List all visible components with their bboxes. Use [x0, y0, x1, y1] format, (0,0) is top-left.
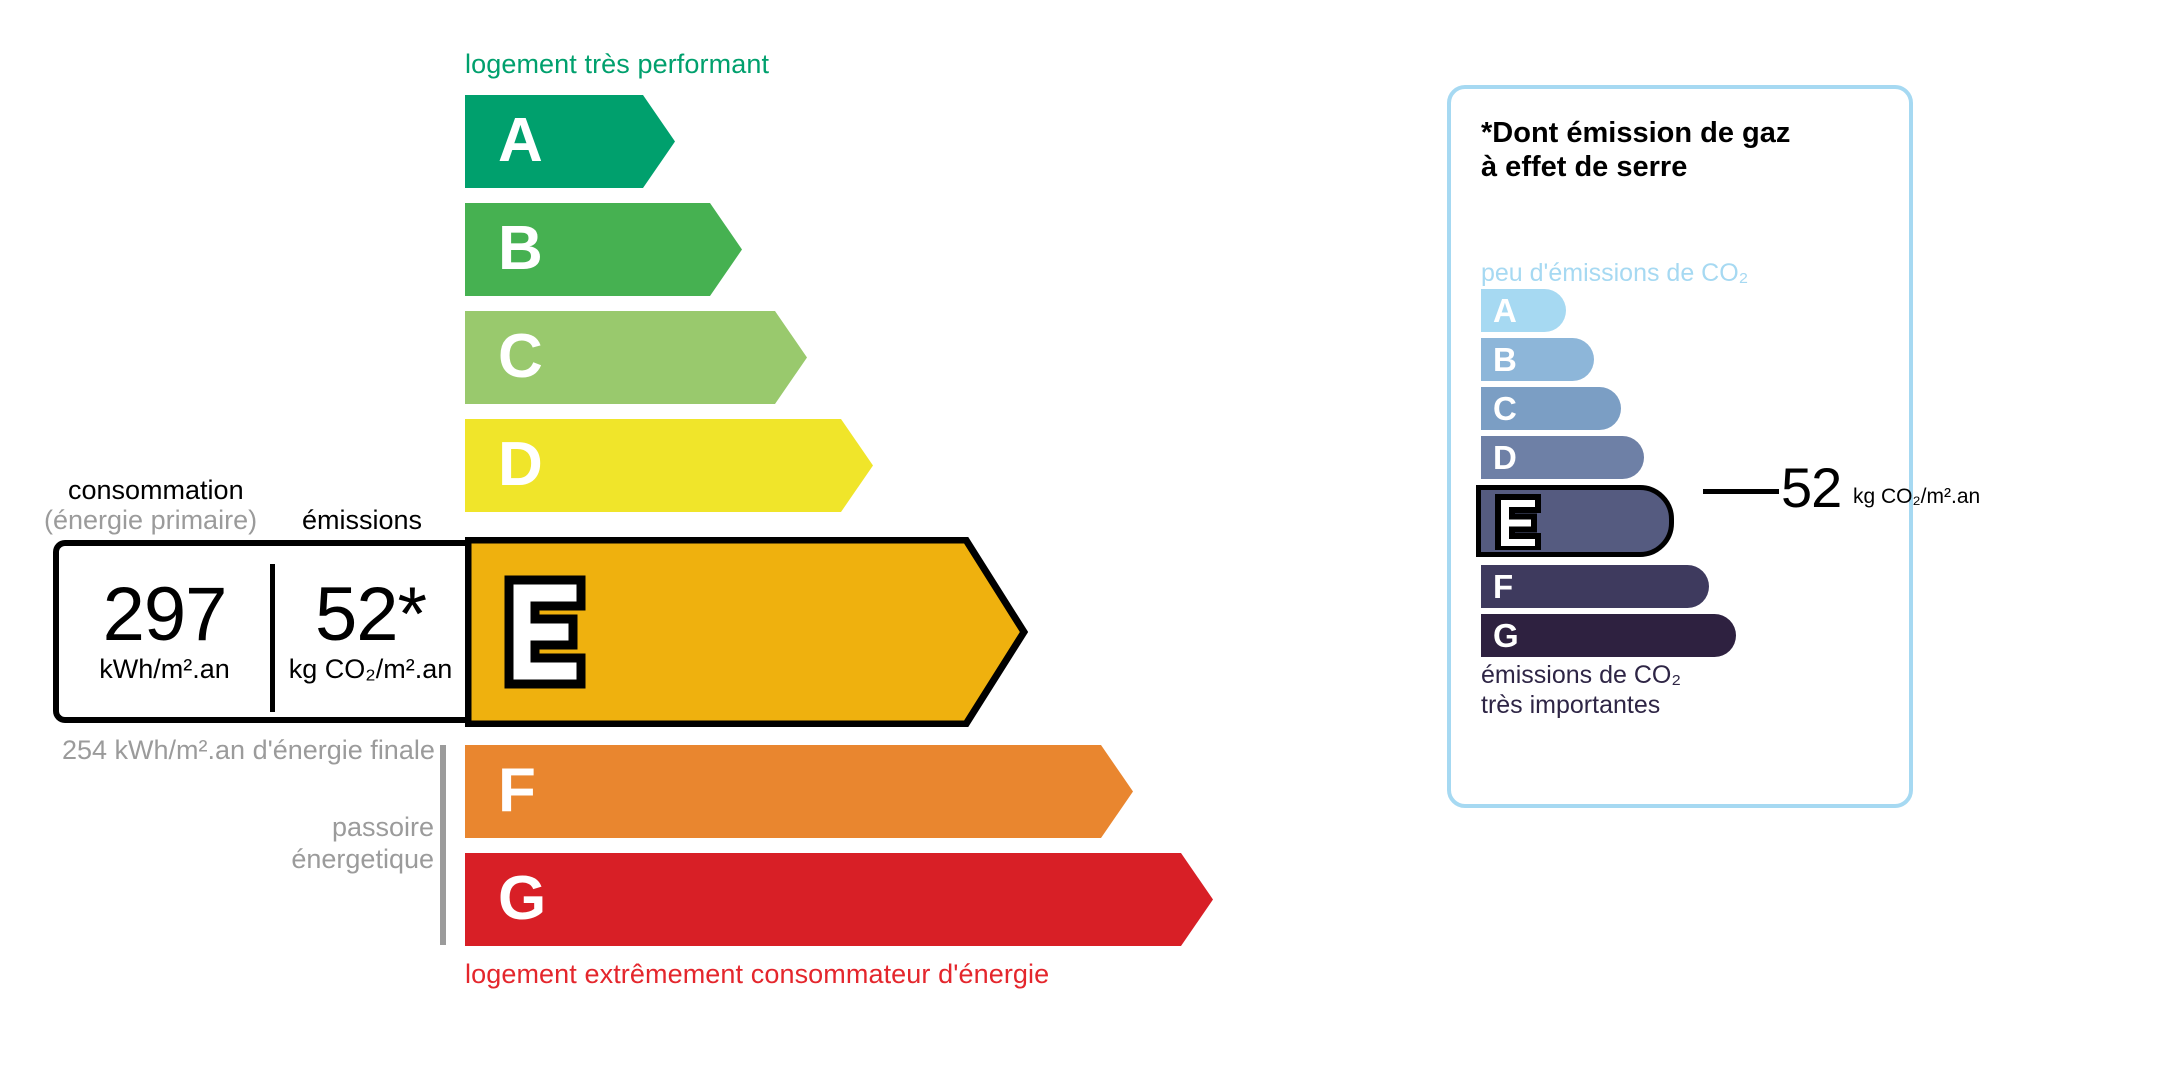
energy-class-letter-d: D — [498, 433, 543, 495]
co2-class-letter-d: D — [1493, 440, 1517, 473]
label-energie-primaire: (énergie primaire) — [44, 505, 257, 536]
co2-class-letter-e — [1493, 492, 1543, 550]
energy-class-letter-a: A — [498, 109, 543, 171]
energy-class-letter-f: F — [498, 759, 536, 821]
co2-class-letter-f: F — [1493, 569, 1513, 602]
scale-caption-top: logement très performant — [465, 49, 769, 80]
co2-callout-unit: kg CO₂/m².an — [1853, 485, 1980, 509]
energy-performance-scale: logement très performant A B C — [0, 0, 1380, 1079]
energy-class-row-f[interactable]: F — [465, 745, 1133, 838]
co2-class-bar-b[interactable]: B — [1481, 338, 1594, 381]
passoire-energetique-label: passoire énergetique — [286, 812, 434, 876]
energy-class-letter-e — [503, 574, 587, 690]
co2-emission-value: 52* — [315, 578, 426, 652]
label-emissions: émissions — [302, 505, 422, 536]
energy-class-row-d[interactable]: D — [465, 419, 873, 512]
co2-class-bar-f[interactable]: F — [1481, 565, 1709, 608]
co2-emission-cell: 52* kg CO₂/m².an — [276, 546, 465, 717]
dpe-label: logement très performant A B C — [0, 0, 2169, 1079]
final-energy-note: 254 kWh/m².an d'énergie finale — [62, 735, 435, 767]
consumption-values-box: 297 kWh/m².an 52* kg CO₂/m².an — [53, 540, 465, 723]
co2-caption-top: peu d'émissions de CO₂ — [1481, 259, 1748, 288]
energy-class-row-e-current[interactable] — [465, 537, 1028, 727]
co2-class-letter-c: C — [1493, 391, 1517, 424]
primary-energy-value: 297 — [103, 578, 227, 652]
energy-class-letter-g: G — [498, 867, 546, 929]
cell-divider — [270, 564, 275, 712]
passoire-energetique-bracket — [440, 745, 446, 945]
co2-class-letter-a: A — [1493, 293, 1517, 326]
co2-emission-unit: kg CO₂/m².an — [289, 654, 453, 685]
co2-emissions-panel: *Dont émission de gaz à effet de serre p… — [1447, 85, 1913, 808]
arrow-shape-g — [465, 853, 1213, 946]
co2-class-letter-b: B — [1493, 342, 1517, 375]
scale-caption-bottom: logement extrêmement consommateur d'éner… — [465, 959, 1049, 990]
primary-energy-unit: kWh/m².an — [99, 654, 230, 685]
co2-class-bar-d[interactable]: D — [1481, 436, 1644, 479]
energy-class-row-a[interactable]: A — [465, 95, 675, 188]
energy-class-letter-c: C — [498, 325, 543, 387]
co2-panel-title: *Dont émission de gaz à effet de serre — [1481, 116, 1790, 184]
energy-class-row-c[interactable]: C — [465, 311, 807, 404]
energy-class-row-b[interactable]: B — [465, 203, 742, 296]
co2-callout-leader-line — [1703, 489, 1779, 494]
label-consommation: consommation — [68, 475, 244, 506]
co2-class-bar-g[interactable]: G — [1481, 614, 1736, 657]
co2-class-letter-g: G — [1493, 618, 1519, 651]
co2-class-bar-a[interactable]: A — [1481, 289, 1566, 332]
co2-callout-value: 52 — [1781, 460, 1841, 516]
arrow-shape-f — [465, 745, 1133, 838]
co2-class-bar-e-current[interactable] — [1476, 485, 1674, 557]
co2-class-bar-c[interactable]: C — [1481, 387, 1621, 430]
energy-class-letter-b: B — [498, 217, 543, 279]
energy-class-row-g[interactable]: G — [465, 853, 1213, 946]
arrow-shape-a — [465, 95, 675, 188]
primary-energy-cell: 297 kWh/m².an — [59, 546, 270, 717]
co2-caption-bottom: émissions de CO₂ très importantes — [1481, 661, 1681, 720]
